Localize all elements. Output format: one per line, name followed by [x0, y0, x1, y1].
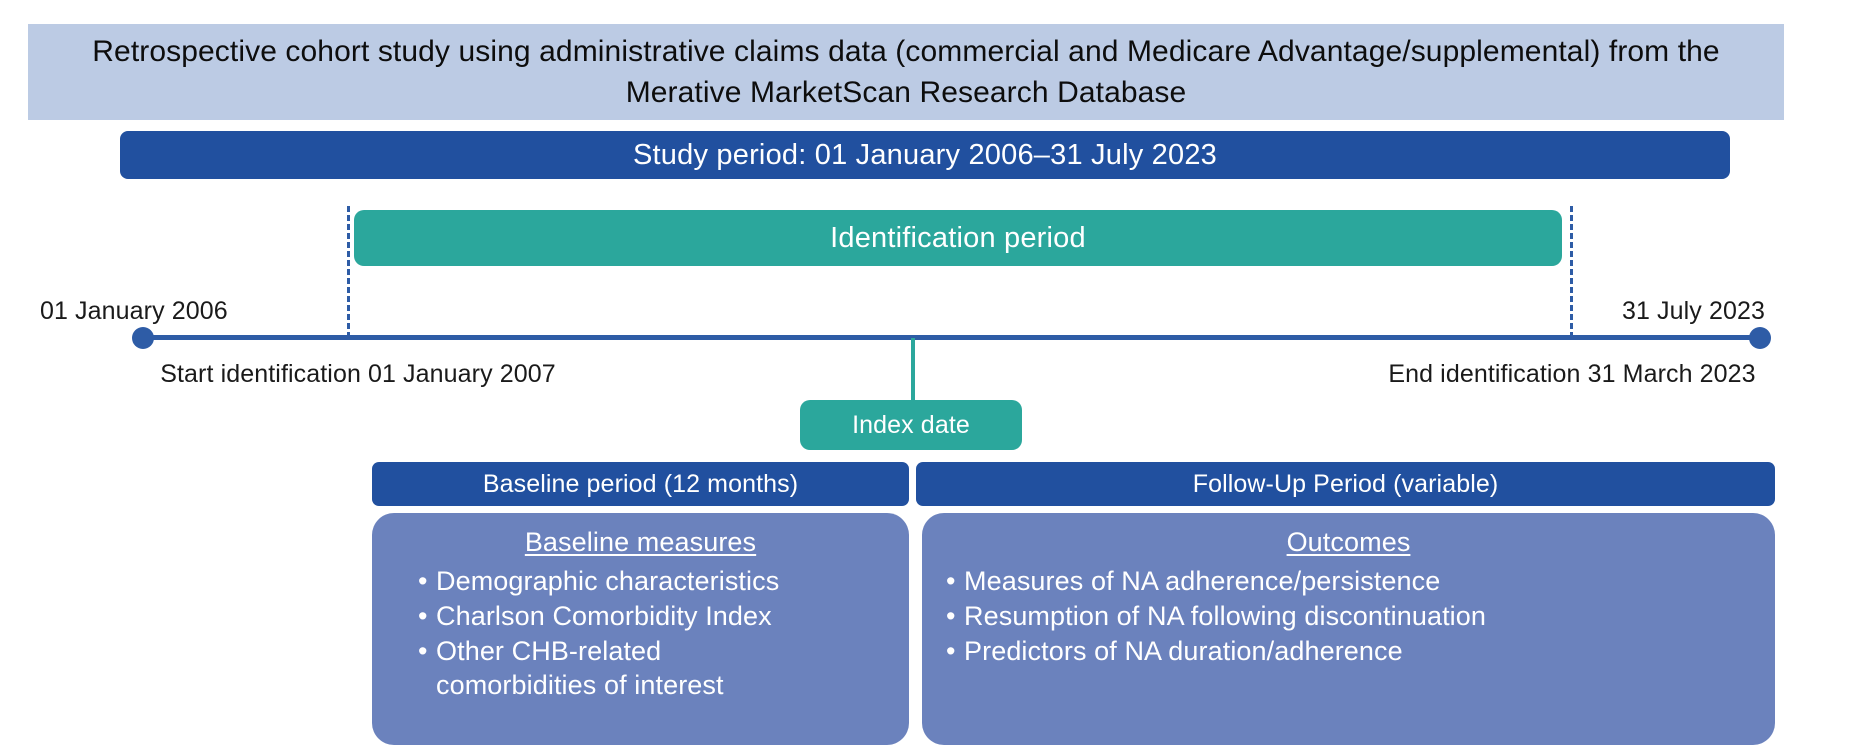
baseline-period-label: Baseline period (12 months): [483, 470, 798, 499]
list-item: Resumption of NA following discontinuati…: [942, 599, 1775, 633]
identification-period-bar: Identification period: [354, 210, 1562, 266]
outcomes-list: Measures of NA adherence/persistence Res…: [922, 564, 1775, 668]
timeline-start-dot: [132, 327, 154, 349]
timeline-end-label: 31 July 2023: [1622, 297, 1765, 326]
outcomes-box: Outcomes Measures of NA adherence/persis…: [922, 513, 1775, 745]
list-item: Other CHB-related comorbidities of inter…: [414, 634, 909, 702]
identification-period-label: Identification period: [830, 222, 1086, 255]
outcomes-title: Outcomes: [922, 527, 1775, 558]
dashed-guide-start-identification: [347, 206, 350, 338]
study-period-bar: Study period: 01 January 2006–31 July 20…: [120, 131, 1730, 179]
list-item: Demographic characteristics: [414, 564, 909, 598]
study-design-diagram: Retrospective cohort study using adminis…: [0, 0, 1860, 754]
timeline-axis: [143, 335, 1761, 340]
baseline-measures-list: Demographic characteristics Charlson Com…: [372, 564, 909, 702]
study-design-header-banner: Retrospective cohort study using adminis…: [28, 24, 1784, 120]
index-date-connector: [911, 338, 915, 406]
list-item: Charlson Comorbidity Index: [414, 599, 909, 633]
list-item: Predictors of NA duration/adherence: [942, 634, 1775, 668]
list-item: Measures of NA adherence/persistence: [942, 564, 1775, 598]
followup-period-bar: Follow-Up Period (variable): [916, 462, 1775, 506]
start-identification-callout: Start identification 01 January 2007: [160, 358, 556, 390]
followup-period-label: Follow-Up Period (variable): [1193, 470, 1499, 499]
header-banner-text: Retrospective cohort study using adminis…: [68, 31, 1744, 114]
index-date-box: Index date: [800, 400, 1022, 450]
timeline-end-dot: [1749, 327, 1771, 349]
baseline-measures-box: Baseline measures Demographic characteri…: [372, 513, 909, 745]
timeline-start-label: 01 January 2006: [40, 297, 228, 326]
baseline-measures-title: Baseline measures: [372, 527, 909, 558]
baseline-period-bar: Baseline period (12 months): [372, 462, 909, 506]
study-period-label: Study period: 01 January 2006–31 July 20…: [633, 139, 1217, 172]
index-date-label: Index date: [852, 411, 970, 440]
dashed-guide-end-identification: [1570, 206, 1573, 338]
end-identification-callout: End identification 31 March 2023: [1388, 358, 1755, 390]
